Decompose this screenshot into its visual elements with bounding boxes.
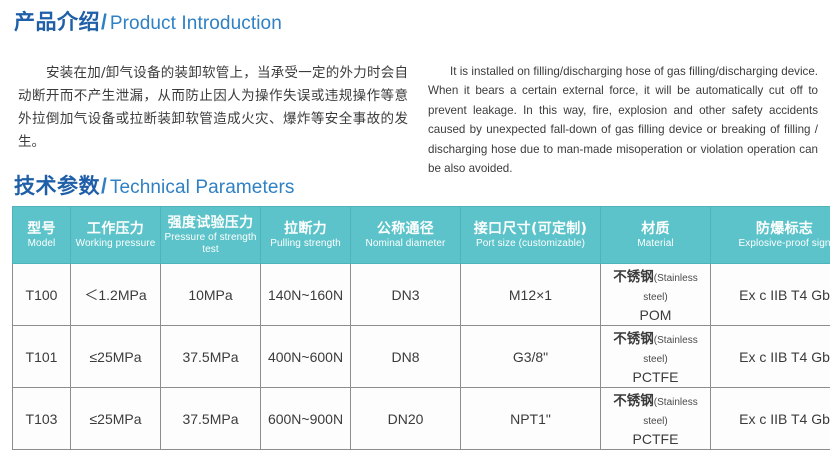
- cell-port-size: G3/8": [461, 326, 601, 388]
- cell-strength-test-pressure: 37.5MPa: [161, 326, 261, 388]
- cell-material: 不锈钢(Stainless steel) PCTFE: [601, 326, 711, 388]
- cell-strength-test-pressure: 10MPa: [161, 264, 261, 326]
- table-row: T101 ≤25MPa 37.5MPa 400N~600N DN8 G3/8" …: [13, 326, 830, 388]
- column-header-material: 材质 Material: [601, 207, 711, 264]
- table-row: T103 ≤25MPa 37.5MPa 600N~900N DN20 NPT1"…: [13, 388, 830, 450]
- heading-separator: /: [101, 175, 107, 199]
- cell-explosive-proof-sign: Ex c IIB T4 Gb: [711, 388, 830, 450]
- column-header-explosive-proof-sign: 防爆标志 Explosive-proof sign: [711, 207, 830, 264]
- cell-material: 不锈钢(Stainless steel) PCTFE: [601, 388, 711, 450]
- column-header-working-pressure: 工作压力 Working pressure: [71, 207, 161, 264]
- heading-separator: /: [101, 11, 107, 35]
- cell-strength-test-pressure: 37.5MPa: [161, 388, 261, 450]
- cell-model: T103: [13, 388, 71, 450]
- product-introduction-title-cn: 产品介绍: [14, 6, 100, 36]
- cell-pulling-strength: 400N~600N: [261, 326, 351, 388]
- technical-parameters-table: 型号 Model 工作压力 Working pressure 强度试验压力 Pr…: [12, 206, 830, 450]
- cell-pulling-strength: 600N~900N: [261, 388, 351, 450]
- cell-model: T101: [13, 326, 71, 388]
- product-introduction-body-cn: 安装在加/卸气设备的装卸软管上，当承受一定的外力时会自动断开而不产生泄漏，从而防…: [18, 62, 408, 154]
- cell-port-size: M12×1: [461, 264, 601, 326]
- cell-nominal-diameter: DN20: [351, 388, 461, 450]
- column-header-nominal-diameter: 公称通径 Nominal diameter: [351, 207, 461, 264]
- column-header-pulling-strength: 拉断力 Pulling strength: [261, 207, 351, 264]
- cell-nominal-diameter: DN3: [351, 264, 461, 326]
- technical-parameters-title-cn: 技术参数: [14, 170, 100, 200]
- technical-parameters-table-container: 型号 Model 工作压力 Working pressure 强度试验压力 Pr…: [12, 206, 818, 450]
- column-header-model: 型号 Model: [13, 207, 71, 264]
- product-introduction-heading: 产品介绍 / Product Introduction: [14, 6, 282, 36]
- technical-parameters-heading: 技术参数 / Technical Parameters: [14, 170, 295, 200]
- cell-explosive-proof-sign: Ex c IIB T4 Gb: [711, 264, 830, 326]
- table-header-row: 型号 Model 工作压力 Working pressure 强度试验压力 Pr…: [13, 207, 830, 264]
- cell-nominal-diameter: DN8: [351, 326, 461, 388]
- cell-port-size: NPT1": [461, 388, 601, 450]
- cell-working-pressure: ＜1.2MPa: [71, 264, 161, 326]
- cell-explosive-proof-sign: Ex c IIB T4 Gb: [711, 326, 830, 388]
- cell-material: 不锈钢(Stainless steel) POM: [601, 264, 711, 326]
- product-introduction-title-en: Product Introduction: [110, 13, 282, 35]
- column-header-strength-test-pressure: 强度试验压力 Pressure of strength test: [161, 207, 261, 264]
- technical-parameters-title-en: Technical Parameters: [110, 177, 295, 199]
- cell-working-pressure: ≤25MPa: [71, 388, 161, 450]
- cell-model: T100: [13, 264, 71, 326]
- cell-working-pressure: ≤25MPa: [71, 326, 161, 388]
- product-introduction-body-en: It is installed on filling/discharging h…: [428, 62, 818, 179]
- cell-pulling-strength: 140N~160N: [261, 264, 351, 326]
- table-row: T100 ＜1.2MPa 10MPa 140N~160N DN3 M12×1 不…: [13, 264, 830, 326]
- column-header-port-size: 接口尺寸(可定制) Port size (customizable): [461, 207, 601, 264]
